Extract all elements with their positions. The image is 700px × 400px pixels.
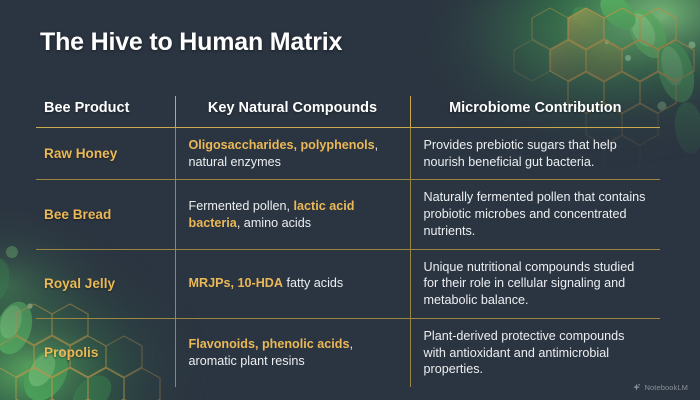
column-header-microbiome-contribution: Microbiome Contribution: [410, 96, 660, 128]
cell-compounds: MRJPs, 10-HDA fatty acids: [175, 249, 410, 318]
column-header-bee-product: Bee Product: [36, 96, 175, 128]
cell-product: Royal Jelly: [36, 249, 175, 318]
cell-microbiome: Plant-derived protective compounds with …: [410, 318, 660, 387]
compound-rest: , amino acids: [237, 216, 311, 230]
cell-microbiome: Naturally fermented pollen that contains…: [410, 180, 660, 249]
compound-lead: Fermented pollen,: [189, 199, 294, 213]
table-row: Raw Honey Oligosaccharides, polyphenols,…: [36, 128, 660, 180]
cell-microbiome: Unique nutritional compounds studied for…: [410, 249, 660, 318]
compound-highlight: Oligosaccharides, polyphenols: [189, 138, 375, 152]
watermark-label: NotebookLM: [644, 383, 688, 392]
compound-highlight: MRJPs, 10-HDA: [189, 276, 283, 290]
cell-compounds: Oligosaccharides, polyphenols, natural e…: [175, 128, 410, 180]
cell-product: Bee Bread: [36, 180, 175, 249]
notebooklm-spark-icon: [632, 383, 641, 392]
page-title: The Hive to Human Matrix: [40, 28, 342, 57]
compound-highlight: Flavonoids, phenolic acids: [189, 337, 350, 351]
matrix-table-container: Bee Product Key Natural Compounds Microb…: [36, 96, 660, 387]
slide-canvas: The Hive to Human Matrix Bee Product Key…: [0, 0, 700, 400]
cell-compounds: Fermented pollen, lactic acid bacteria, …: [175, 180, 410, 249]
table-header-row: Bee Product Key Natural Compounds Microb…: [36, 96, 660, 128]
compound-rest: fatty acids: [283, 276, 343, 290]
hive-to-human-matrix-table: Bee Product Key Natural Compounds Microb…: [36, 96, 660, 387]
table-row: Bee Bread Fermented pollen, lactic acid …: [36, 180, 660, 249]
cell-product: Raw Honey: [36, 128, 175, 180]
notebooklm-watermark: NotebookLM: [632, 383, 688, 392]
cell-compounds: Flavonoids, phenolic acids, aromatic pla…: [175, 318, 410, 387]
column-header-key-natural-compounds: Key Natural Compounds: [175, 96, 410, 128]
cell-product: Propolis: [36, 318, 175, 387]
cell-microbiome: Provides prebiotic sugars that help nour…: [410, 128, 660, 180]
table-row: Propolis Flavonoids, phenolic acids, aro…: [36, 318, 660, 387]
table-row: Royal Jelly MRJPs, 10-HDA fatty acids Un…: [36, 249, 660, 318]
